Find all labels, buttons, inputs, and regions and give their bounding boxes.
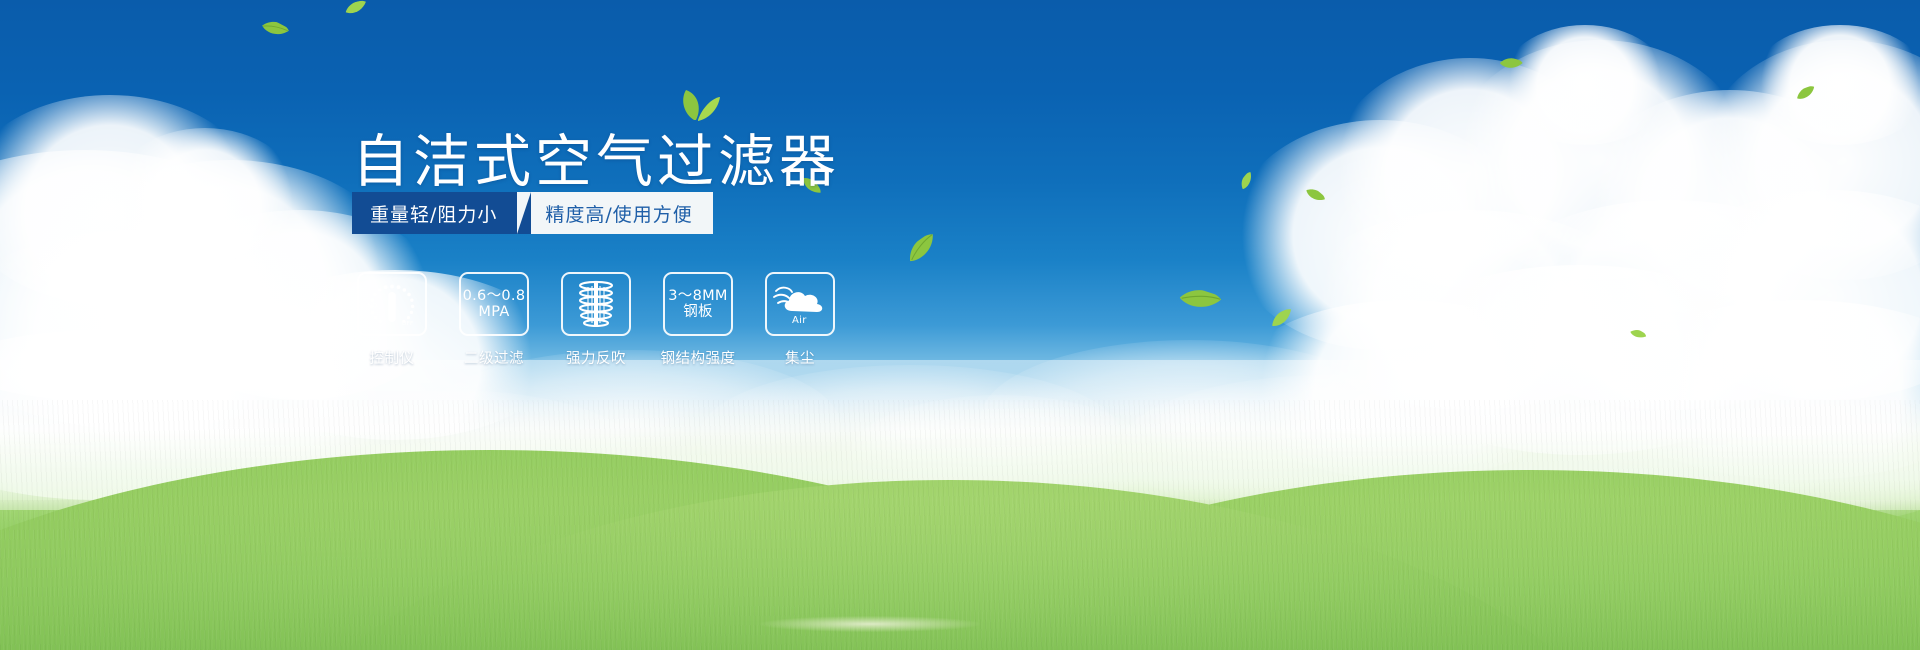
- steel-plate-text-icon: 3～8MM 钢板: [663, 272, 733, 336]
- svg-text:NO: NO: [368, 303, 378, 310]
- svg-text:OFF: OFF: [402, 321, 413, 327]
- feature-item-secondary-filtration[interactable]: 0.6～0.8 MPA 二级过滤: [458, 272, 530, 368]
- feature-item-strong-backblow[interactable]: 强力反吹: [560, 272, 632, 368]
- feature-item-steel-structure[interactable]: 3～8MM 钢板 钢结构强度: [662, 272, 734, 368]
- pressure-value: 0.6～0.8: [463, 288, 526, 304]
- feature-label: 强力反吹: [566, 347, 626, 368]
- air-cloud-icon: Air: [765, 272, 835, 336]
- filter-coil-icon: [561, 272, 631, 336]
- badge-lightweight[interactable]: 重量轻/阻力小: [352, 192, 517, 234]
- pressure-text-icon: 0.6～0.8 MPA: [459, 272, 529, 336]
- page-title: 自洁式空气过滤器: [352, 116, 840, 198]
- feature-badge-row: 重量轻/阻力小 精度高/使用方便: [352, 192, 713, 234]
- steel-plate-label: 钢板: [683, 304, 713, 320]
- product-hero-banner: 自洁式空气过滤器 重量轻/阻力小 精度高/使用方便: [0, 0, 1920, 650]
- control-dial-icon: NO OFF: [357, 272, 427, 336]
- badge-precision[interactable]: 精度高/使用方便: [515, 192, 712, 234]
- pressure-unit: MPA: [478, 304, 509, 320]
- feature-label: 控制仪: [370, 347, 415, 368]
- steel-thickness: 3～8MM: [668, 288, 727, 304]
- feature-label: 集尘: [785, 347, 815, 368]
- feature-icon-row: NO OFF 控制仪 0.6～0.8 MPA 二级过滤: [356, 272, 836, 368]
- feature-item-dust-collection[interactable]: Air 集尘: [764, 272, 836, 368]
- feature-item-control-instrument[interactable]: NO OFF 控制仪: [356, 272, 428, 368]
- air-label: Air: [792, 315, 807, 326]
- feature-label: 二级过滤: [464, 347, 524, 368]
- feature-label: 钢结构强度: [661, 347, 736, 368]
- title-leaf-icon: [672, 88, 720, 127]
